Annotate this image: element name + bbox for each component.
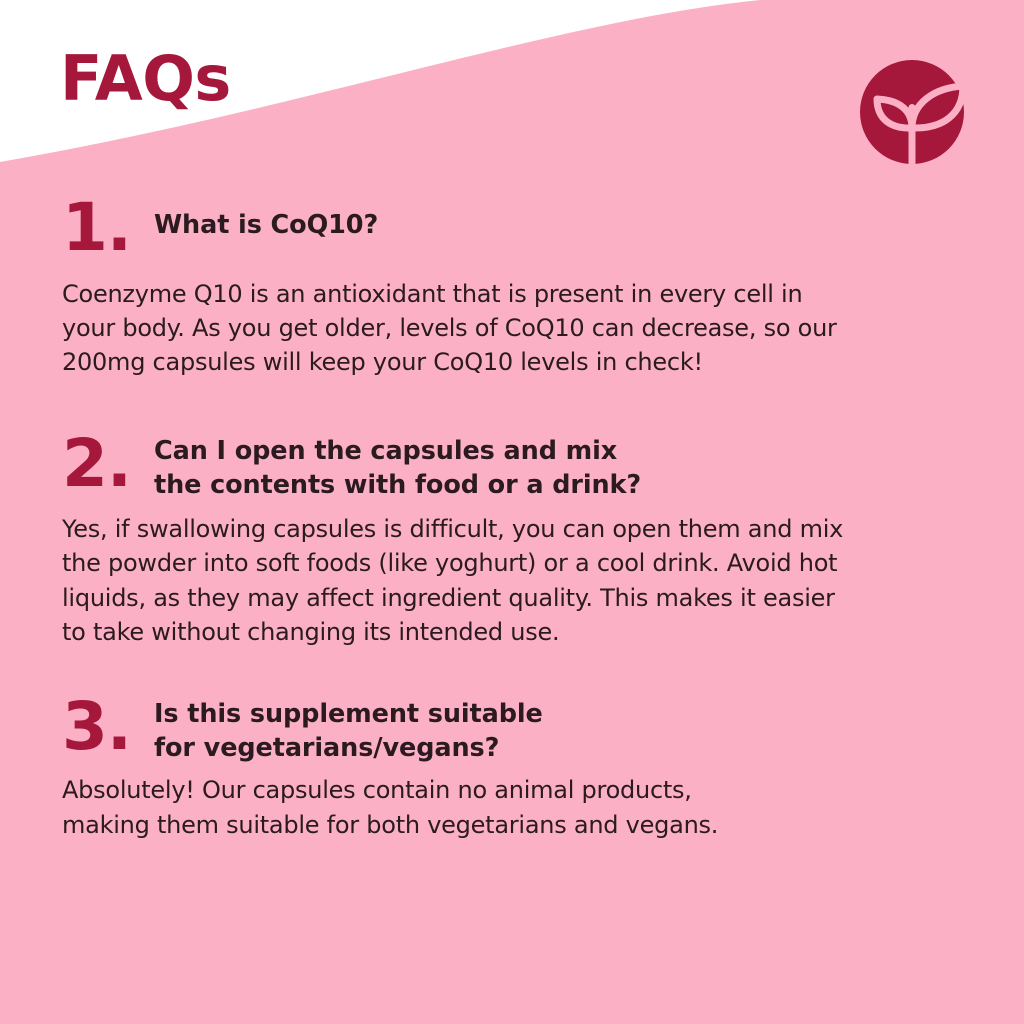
- sprout-logo-icon: [857, 56, 973, 172]
- faq-number-2: 2.: [62, 432, 154, 497]
- page-title: FAQs: [60, 48, 231, 110]
- header-band: FAQs: [0, 0, 1024, 200]
- faq-page: FAQs 1. What is CoQ10? Coenzyme Q10 is a…: [0, 0, 1024, 1024]
- faq-question-2: Can I open the capsules and mix the cont…: [154, 432, 964, 502]
- sprout-logo: [857, 56, 973, 172]
- faq-header-3: 3. Is this supplement suitable for veget…: [62, 695, 964, 765]
- faq-list: 1. What is CoQ10? Coenzyme Q10 is an ant…: [0, 196, 1024, 882]
- faq-number-1: 1.: [62, 196, 154, 261]
- faq-item-2: 2. Can I open the capsules and mix the c…: [0, 432, 1024, 650]
- faq-question-3: Is this supplement suitable for vegetari…: [154, 695, 964, 765]
- faq-question-1: What is CoQ10?: [154, 196, 964, 242]
- faq-answer-3: Absolutely! Our capsules contain no anim…: [62, 773, 942, 842]
- faq-answer-2: Yes, if swallowing capsules is difficult…: [62, 512, 942, 649]
- faq-item-3: 3. Is this supplement suitable for veget…: [0, 695, 1024, 842]
- faq-header-1: 1. What is CoQ10?: [62, 196, 964, 261]
- faq-answer-1: Coenzyme Q10 is an antioxidant that is p…: [62, 277, 942, 380]
- faq-header-2: 2. Can I open the capsules and mix the c…: [62, 432, 964, 502]
- faq-number-3: 3.: [62, 695, 154, 760]
- faq-item-1: 1. What is CoQ10? Coenzyme Q10 is an ant…: [0, 196, 1024, 380]
